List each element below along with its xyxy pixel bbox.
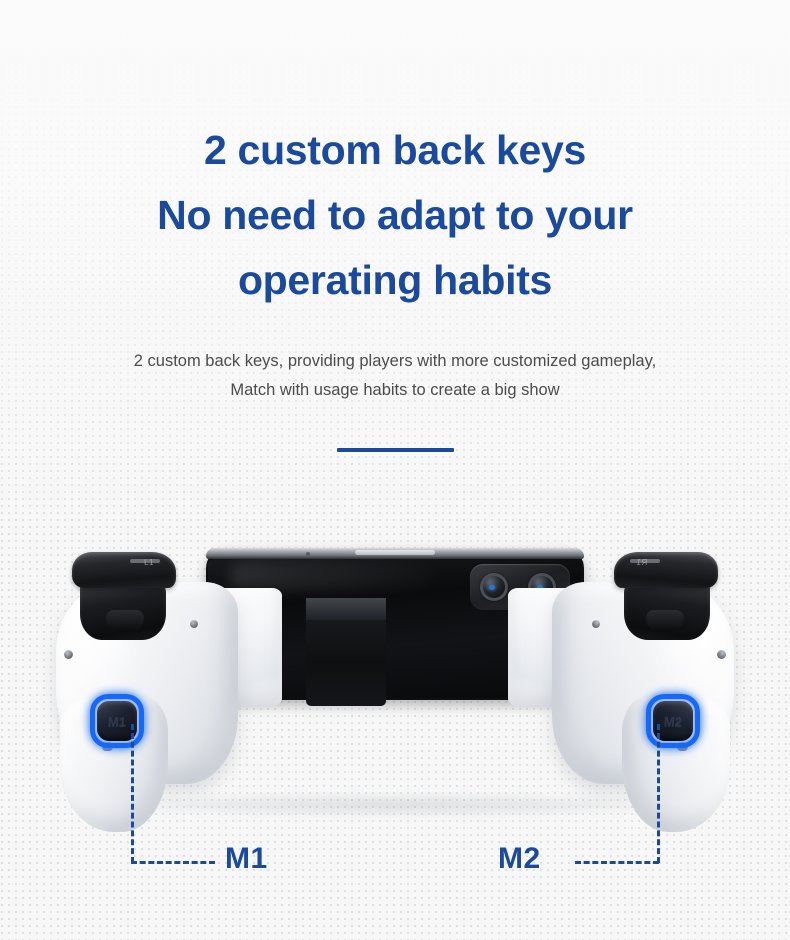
controller-left-grip: L1 M1 xyxy=(38,546,270,811)
page-title: 2 custom back keys No need to adapt to y… xyxy=(0,118,790,312)
subtitle-line-2: Match with usage habits to create a big … xyxy=(0,376,790,405)
left-grip-vent-hole-2 xyxy=(190,620,198,628)
callout-m2-label: M2 xyxy=(498,842,541,876)
right-trigger-r2[interactable] xyxy=(624,580,710,640)
section-divider xyxy=(337,448,454,452)
left-trigger-l2[interactable] xyxy=(80,580,166,640)
callout-m1-label: M1 xyxy=(225,842,268,876)
back-key-m1-label: M1 xyxy=(108,714,127,729)
controller-right-grip: R1 M2 xyxy=(520,546,752,811)
right-grip-vent-hole-2 xyxy=(592,620,600,628)
back-key-m2-label: M2 xyxy=(664,714,683,729)
bridge-detail xyxy=(306,598,386,620)
back-key-m2[interactable]: M2 xyxy=(646,694,700,748)
product-image: L1 M1 R1 M2 xyxy=(0,520,790,860)
right-bumper-label: R1 xyxy=(636,558,647,567)
camera-lens-primary xyxy=(480,573,508,601)
headline-line-3: operating habits xyxy=(0,248,790,313)
left-bumper-label: L1 xyxy=(144,558,154,567)
right-bumper-r1[interactable]: R1 xyxy=(614,552,718,588)
callout-m2-leader-vertical xyxy=(657,724,660,863)
page-subtitle: 2 custom back keys, providing players wi… xyxy=(0,347,790,404)
left-bumper-l1[interactable]: L1 xyxy=(72,552,176,588)
phone-speaker-slot xyxy=(355,550,435,555)
back-key-m1[interactable]: M1 xyxy=(90,694,144,748)
headline-line-2: No need to adapt to your xyxy=(0,183,790,248)
callout-m1-leader-horizontal xyxy=(131,861,215,864)
controller-center-bridge xyxy=(306,598,386,706)
callout-m2-leader-horizontal xyxy=(575,861,659,864)
callout-m1-leader-vertical xyxy=(131,724,134,863)
left-grip-vent-hole-1 xyxy=(64,650,73,659)
subtitle-line-1: 2 custom back keys, providing players wi… xyxy=(0,347,790,376)
right-grip-vent-hole-1 xyxy=(717,650,726,659)
phone-mic-dot xyxy=(306,552,310,556)
headline-line-1: 2 custom back keys xyxy=(0,118,790,183)
